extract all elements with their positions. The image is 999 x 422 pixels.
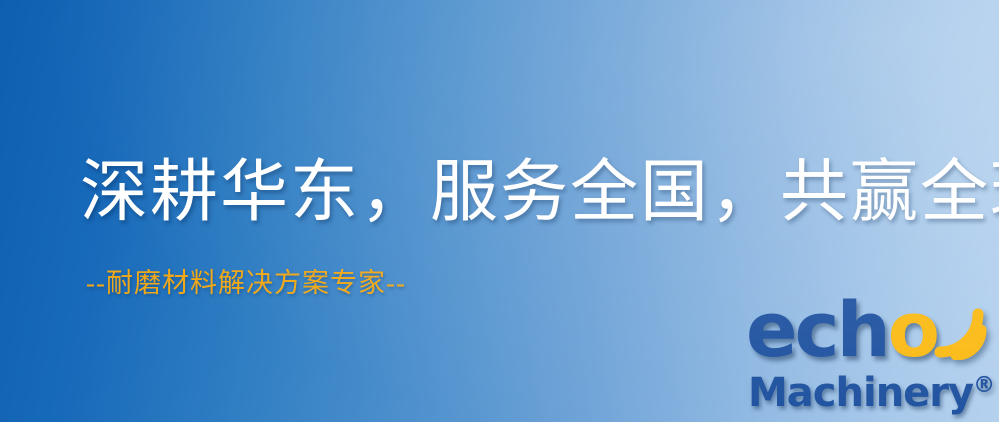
hero-banner: 深耕华东，服务全国，共赢全球 --耐磨材料解决方案专家-- echo Machi… (0, 0, 999, 422)
logo-wordmark: echo (746, 294, 937, 366)
banner-headline: 深耕华东，服务全国，共赢全球 (80, 150, 950, 234)
company-logo[interactable]: echo Machinery® (746, 296, 994, 418)
logo-tagline: Machinery® (748, 370, 995, 416)
echo-wave-icon (922, 296, 994, 360)
logo-wordmark-lead: ech (746, 285, 888, 374)
logo-tagline-text: Machinery (748, 370, 973, 416)
registered-trademark-icon: ® (973, 373, 995, 398)
banner-subtitle: --耐磨材料解决方案专家-- (86, 266, 406, 300)
